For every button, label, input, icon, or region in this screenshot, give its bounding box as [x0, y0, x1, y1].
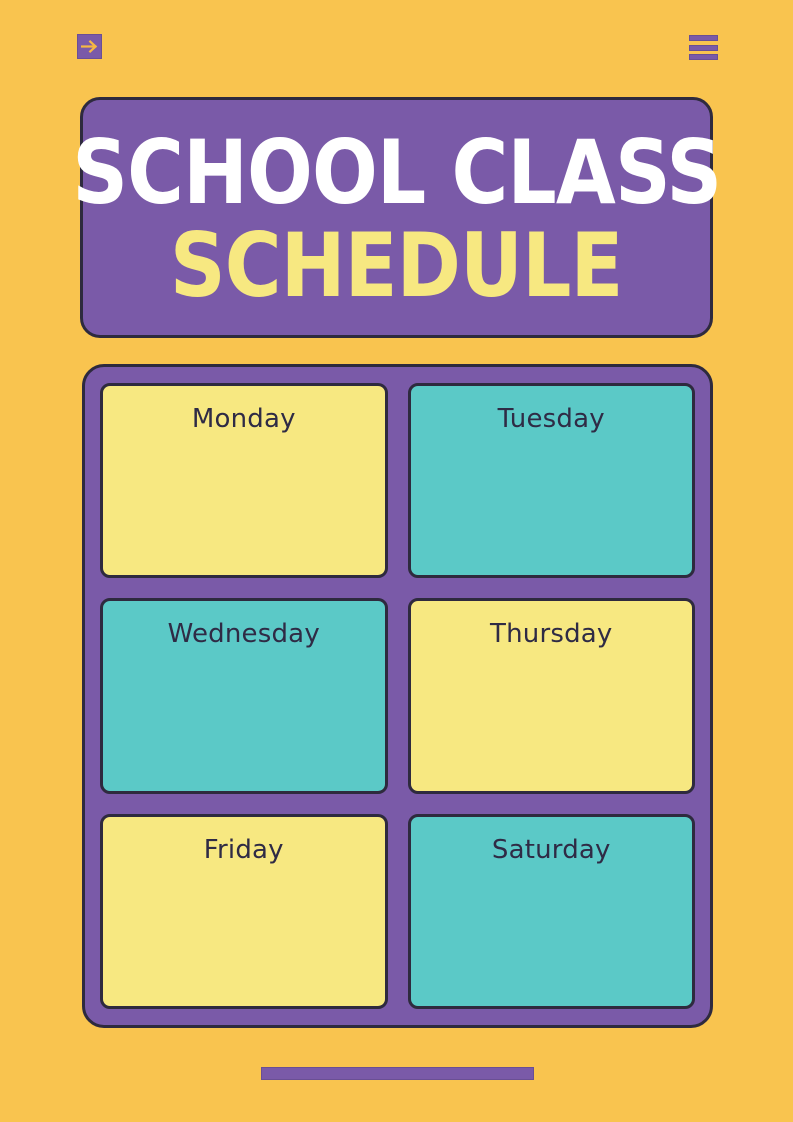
arrow-right-icon: [81, 39, 98, 54]
day-card-label: Wednesday: [103, 619, 385, 649]
page-title-line-2: SCHEDULE: [170, 223, 623, 309]
day-card-saturday[interactable]: Saturday: [408, 814, 696, 1009]
schedule-panel: Monday Tuesday Wednesday Thursday Friday…: [82, 364, 713, 1028]
hamburger-menu-button[interactable]: [689, 35, 718, 60]
hamburger-menu-icon-bar-2: [689, 45, 718, 51]
day-card-label: Tuesday: [411, 404, 693, 434]
day-card-label: Friday: [103, 835, 385, 865]
day-card-monday[interactable]: Monday: [100, 383, 388, 578]
home-indicator[interactable]: [261, 1067, 534, 1080]
day-card-label: Saturday: [411, 835, 693, 865]
page-title-line-1: SCHOOL CLASS: [72, 130, 721, 216]
back-button[interactable]: [77, 34, 102, 59]
day-card-tuesday[interactable]: Tuesday: [408, 383, 696, 578]
day-card-thursday[interactable]: Thursday: [408, 598, 696, 793]
day-card-wednesday[interactable]: Wednesday: [100, 598, 388, 793]
page-title-banner: SCHOOL CLASS SCHEDULE: [80, 97, 713, 338]
hamburger-menu-icon-bar-1: [689, 35, 718, 41]
day-card-label: Thursday: [411, 619, 693, 649]
day-card-label: Monday: [103, 404, 385, 434]
hamburger-menu-icon-bar-3: [689, 54, 718, 60]
day-grid: Monday Tuesday Wednesday Thursday Friday…: [100, 383, 695, 1009]
top-bar: [0, 0, 793, 97]
day-card-friday[interactable]: Friday: [100, 814, 388, 1009]
